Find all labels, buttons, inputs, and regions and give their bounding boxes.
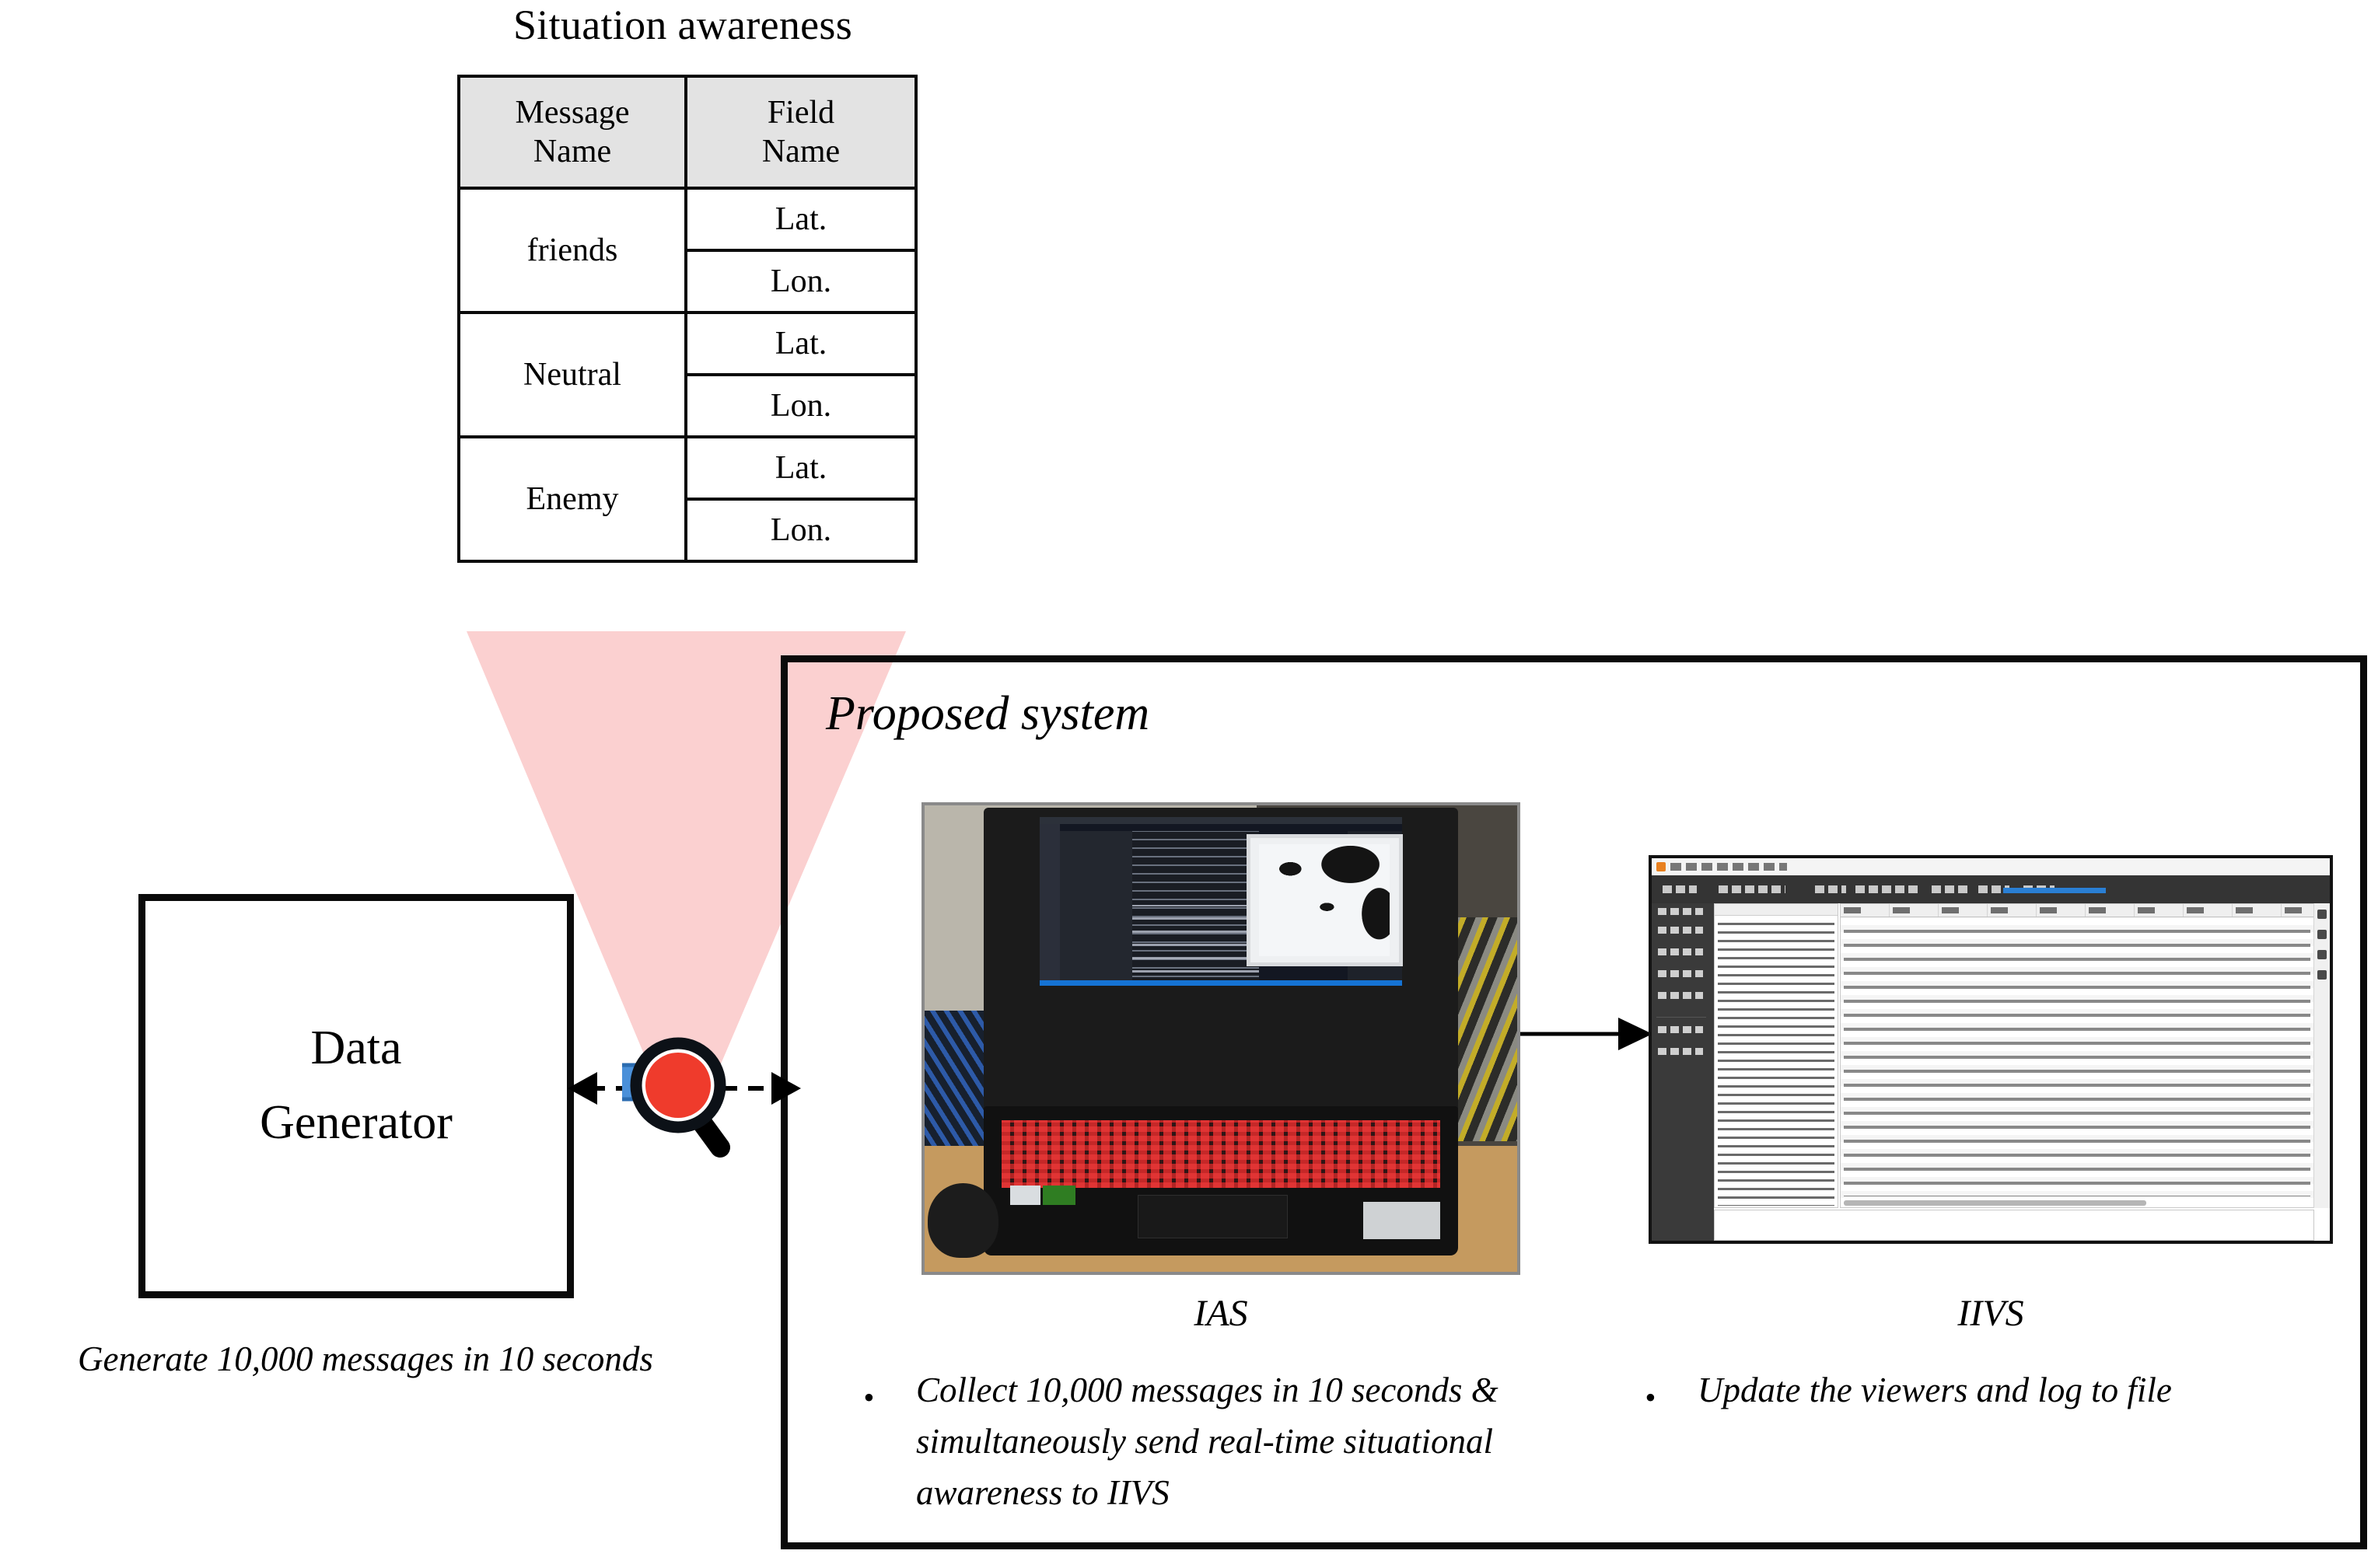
screen-title-bar bbox=[1040, 817, 1402, 824]
iivs-table-cell-text bbox=[1844, 919, 2310, 1196]
iivs-toolbar-start-button[interactable] bbox=[1663, 885, 1697, 893]
iivs-horizontal-scrollbar[interactable] bbox=[1844, 1200, 2146, 1206]
sidebar-divider bbox=[1656, 1017, 1706, 1018]
cell-field-name: Lat. bbox=[686, 188, 916, 250]
cell-field-name: Lon. bbox=[686, 375, 916, 437]
save-icon[interactable] bbox=[2317, 970, 2327, 980]
screen-log-output bbox=[1132, 905, 1259, 986]
computer-mouse bbox=[928, 1183, 998, 1258]
proposed-system-title: Proposed system bbox=[826, 684, 1149, 743]
iivs-title-bar bbox=[1652, 858, 2330, 876]
data-generator-label-line2: Generator bbox=[260, 1096, 453, 1149]
iivs-progress-bar[interactable] bbox=[2003, 888, 2106, 893]
sidebar-item-1[interactable] bbox=[1658, 927, 1703, 934]
sidebar-item-header bbox=[1658, 908, 1703, 915]
iivs-caption-body: • Update the viewers and log to file bbox=[1645, 1364, 2345, 1416]
iivs-toolbar bbox=[1652, 875, 2330, 903]
sidebar-item-4[interactable] bbox=[1658, 992, 1703, 999]
header-line-2: Name bbox=[533, 134, 611, 169]
iivs-window-title bbox=[1670, 863, 1787, 871]
laptop-badge-gpu bbox=[1043, 1186, 1075, 1205]
ias-caption-body: • Collect 10,000 messages in 10 seconds … bbox=[863, 1364, 1610, 1518]
cell-message-name: Enemy bbox=[459, 437, 686, 561]
iivs-table-header-row bbox=[1841, 904, 2313, 917]
column-header-field-name: Field Name bbox=[686, 76, 916, 188]
filter-icon[interactable] bbox=[2317, 950, 2327, 959]
iivs-tree-header bbox=[1715, 904, 1838, 916]
ias-laptop-photo bbox=[921, 802, 1520, 1275]
iivs-detail-pane bbox=[1714, 1210, 2314, 1241]
sidebar-item-3[interactable] bbox=[1658, 970, 1703, 977]
data-generator-label: Data Generator bbox=[138, 1011, 574, 1160]
data-generator-caption: Generate 10,000 messages in 10 seconds bbox=[8, 1337, 723, 1381]
laptop-trackpad bbox=[1138, 1195, 1288, 1238]
table-header-row: Message Name Field Name bbox=[459, 76, 916, 188]
header-line-1: Field bbox=[768, 95, 834, 131]
iivs-caption-text: Update the viewers and log to file bbox=[1698, 1364, 2345, 1416]
table-row: Enemy Lat. bbox=[459, 437, 916, 499]
ias-caption-text: Collect 10,000 messages in 10 seconds & … bbox=[916, 1364, 1610, 1518]
table-row: Neutral Lat. bbox=[459, 313, 916, 375]
screen-activity-bar bbox=[1040, 824, 1060, 986]
situation-awareness-table: Message Name Field Name friends Lat. Lon… bbox=[457, 75, 918, 563]
flow-arrow-icon bbox=[1520, 1011, 1652, 1057]
sidebar-item-2[interactable] bbox=[1658, 948, 1703, 955]
iivs-tree-rows[interactable] bbox=[1718, 917, 1834, 1206]
keyboard-backlight bbox=[1002, 1120, 1440, 1188]
laptop-sticker bbox=[1363, 1202, 1440, 1239]
iivs-toolbar-mode-label bbox=[1815, 885, 1846, 893]
cell-field-name: Lat. bbox=[686, 437, 916, 499]
laptop-lid bbox=[984, 808, 1458, 1109]
grid-icon[interactable] bbox=[2317, 910, 2327, 919]
cell-field-name: Lon. bbox=[686, 250, 916, 313]
cell-message-name: friends bbox=[459, 188, 686, 313]
header-line-1: Message bbox=[516, 95, 630, 131]
screen-taskbar bbox=[1040, 980, 1402, 987]
iivs-data-table[interactable] bbox=[1840, 903, 2314, 1208]
laptop-keyboard bbox=[1002, 1120, 1440, 1188]
cell-field-name: Lon. bbox=[686, 499, 916, 561]
iivs-right-tool-rail bbox=[2313, 903, 2330, 1208]
iivs-toolbar-playback-mode[interactable] bbox=[1855, 885, 1918, 893]
sidebar-item-5[interactable] bbox=[1658, 1048, 1703, 1055]
sidebar-section-label bbox=[1658, 1026, 1703, 1033]
iivs-table-column-headers bbox=[1844, 907, 2310, 913]
iivs-message-tree[interactable] bbox=[1714, 903, 1838, 1208]
situation-awareness-title: Situation awareness bbox=[457, 0, 908, 50]
cell-field-name: Lat. bbox=[686, 313, 916, 375]
bullet-icon: • bbox=[863, 1372, 874, 1423]
header-line-2: Name bbox=[762, 134, 840, 169]
screen-map-window bbox=[1247, 834, 1403, 966]
gear-icon[interactable] bbox=[2317, 930, 2327, 939]
iivs-toolbar-connection-status[interactable] bbox=[1719, 885, 1785, 893]
laptop-screen bbox=[1040, 817, 1402, 986]
iivs-table-body[interactable] bbox=[1841, 917, 2313, 1198]
bullet-icon: • bbox=[1645, 1372, 1656, 1423]
magnifier-icon bbox=[622, 1025, 747, 1172]
iivs-sidebar bbox=[1652, 903, 1714, 1241]
data-generator-label-line1: Data bbox=[310, 1021, 401, 1074]
screen-file-tree bbox=[1060, 831, 1132, 986]
column-header-message-name: Message Name bbox=[459, 76, 686, 188]
laptop-badge-left bbox=[1010, 1186, 1040, 1205]
iivs-toolbar-open-button[interactable] bbox=[1932, 885, 1969, 893]
ias-caption-title: IAS bbox=[894, 1290, 1547, 1337]
iivs-caption-title: IIVS bbox=[1656, 1290, 2325, 1337]
iivs-application-screenshot bbox=[1649, 855, 2333, 1244]
screen-map-landmass bbox=[1259, 844, 1390, 956]
table-row: friends Lat. bbox=[459, 188, 916, 250]
cell-message-name: Neutral bbox=[459, 313, 686, 437]
iivs-app-icon bbox=[1656, 862, 1666, 871]
